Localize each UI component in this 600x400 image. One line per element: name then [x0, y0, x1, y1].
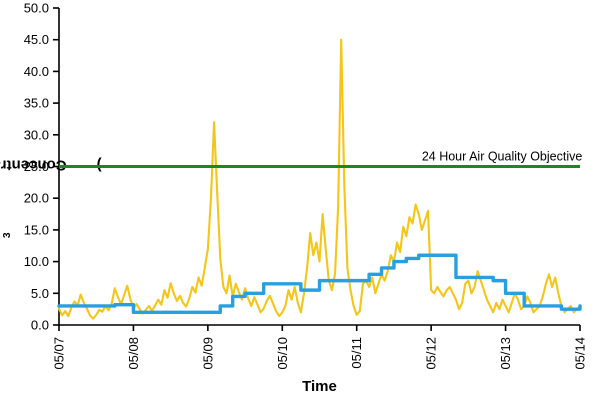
x-axis-ticks: 05/0705/0805/0905/1005/1105/1205/1305/14 [52, 325, 588, 370]
y-tick-label: 35.0 [24, 96, 49, 111]
y-tick-label: 20.0 [24, 191, 49, 206]
y-axis-ticks: 0.05.010.015.020.025.030.035.040.045.050… [24, 1, 59, 333]
y-tick-label: 15.0 [24, 222, 49, 237]
y-tick-label: 30.0 [24, 127, 49, 142]
y-tick-label: 40.0 [24, 64, 49, 79]
air-quality-chart: Concentration (µg/m3) Time 0.05.010.015.… [0, 0, 600, 400]
y-tick-label: 25.0 [24, 159, 49, 174]
y-tick-label: 10.0 [24, 254, 49, 269]
x-tick-label: 05/10 [275, 337, 290, 370]
y-tick-label: 0.0 [31, 318, 49, 333]
x-tick-label: 05/13 [498, 337, 513, 370]
y-tick-label: 5.0 [31, 286, 49, 301]
y-tick-label: 45.0 [24, 32, 49, 47]
plot-area: 0.05.010.015.020.025.030.035.040.045.050… [0, 0, 600, 400]
x-tick-label: 05/08 [126, 337, 141, 370]
series-hourly-concentration [59, 40, 580, 319]
x-tick-label: 05/09 [200, 337, 215, 370]
x-tick-label: 05/14 [573, 337, 588, 370]
x-tick-label: 05/11 [349, 337, 364, 369]
x-tick-label: 05/12 [424, 337, 439, 370]
objective-annotation-label: 24 Hour Air Quality Objective [422, 150, 583, 164]
y-tick-label: 50.0 [24, 1, 49, 16]
x-tick-label: 05/07 [52, 337, 67, 370]
